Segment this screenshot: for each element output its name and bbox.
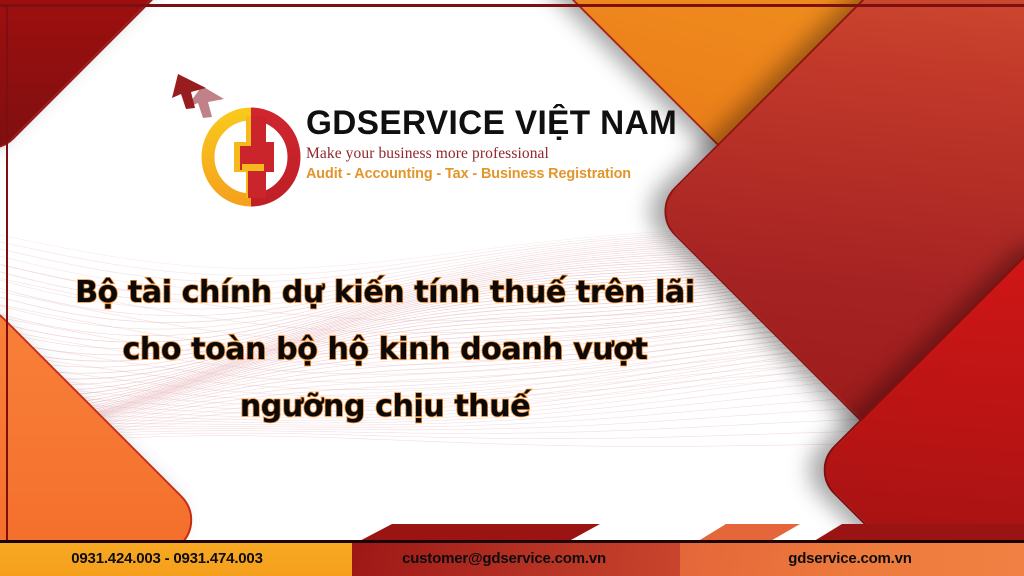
headline: Bộ tài chính dự kiến tính thuế trên lãi … bbox=[40, 278, 730, 422]
footer-website-segment[interactable]: gdservice.com.vn bbox=[676, 540, 1024, 576]
brand-tagline: Make your business more professional bbox=[306, 145, 612, 163]
footer-top-rule bbox=[0, 540, 1024, 543]
logo-text-block: GDSERVICE VIỆT NAM Make your business mo… bbox=[306, 106, 612, 182]
footer-phone-segment[interactable]: 0931.424.003 - 0931.474.003 bbox=[0, 540, 352, 576]
frame-top-line bbox=[0, 4, 1024, 7]
footer-email-text: customer@gdservice.com.vn bbox=[402, 550, 606, 567]
brand-name: GDSERVICE VIỆT NAM bbox=[306, 106, 606, 141]
logo-lockup: GDSERVICE VIỆT NAM Make your business mo… bbox=[172, 72, 612, 217]
footer-contact-bar: 0931.424.003 - 0931.474.003 customer@gds… bbox=[0, 540, 1024, 576]
headline-line-2: cho toàn bộ hộ kinh doanh vượt bbox=[40, 335, 730, 365]
brand-services-line: Audit - Accounting - Tax - Business Regi… bbox=[306, 165, 600, 182]
footer-email-segment[interactable]: customer@gdservice.com.vn bbox=[328, 540, 680, 576]
gdservice-circle-g-icon bbox=[196, 102, 306, 212]
promo-banner: GDSERVICE VIỆT NAM Make your business mo… bbox=[0, 0, 1024, 576]
footer-phone-text: 0931.424.003 - 0931.474.003 bbox=[71, 550, 262, 567]
headline-line-3: ngưỡng chịu thuế bbox=[40, 392, 730, 422]
footer-website-text: gdservice.com.vn bbox=[788, 550, 912, 567]
headline-line-1: Bộ tài chính dự kiến tính thuế trên lãi bbox=[40, 278, 730, 308]
frame-left-line bbox=[6, 4, 8, 544]
